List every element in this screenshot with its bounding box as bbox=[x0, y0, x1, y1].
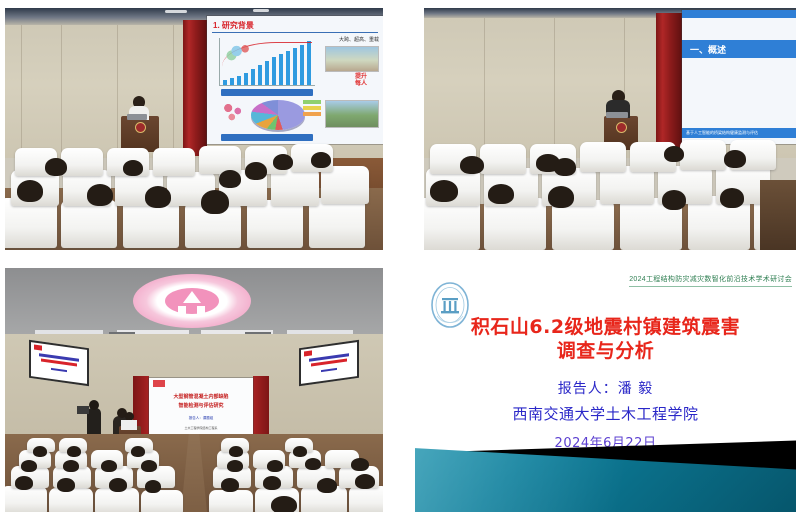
slide-section-heading: 一、概述 bbox=[682, 40, 796, 58]
bar-chart bbox=[219, 38, 315, 86]
pie-chart bbox=[251, 100, 305, 130]
ceiling-light bbox=[253, 9, 269, 12]
stage-curtain-right bbox=[253, 376, 269, 434]
map-thumbnail bbox=[223, 40, 257, 62]
podium-emblem bbox=[135, 122, 146, 133]
wall-seam bbox=[173, 25, 174, 158]
slide-red-note: 提升每人 bbox=[341, 74, 381, 87]
slide-title-line-2: 智能检测与评估研究 bbox=[149, 402, 253, 409]
chart-caption-band bbox=[221, 89, 313, 96]
photo-top-left: 1. 研究背景 bbox=[5, 8, 383, 250]
network-diagram bbox=[221, 102, 245, 122]
stage-curtain bbox=[183, 20, 207, 156]
side-desk bbox=[760, 180, 796, 250]
slide-title-line-1: 积石山6.2级地震村镇建筑震害 bbox=[415, 316, 796, 340]
laptop bbox=[127, 114, 147, 120]
wall-seam bbox=[21, 25, 22, 158]
slide-title-line-1: 大型钢管混凝土内部缺陷 bbox=[149, 394, 253, 402]
slide-subtitle: 报告人：课题组 bbox=[149, 416, 253, 421]
conference-header-rule bbox=[629, 286, 792, 287]
screenshot-canvas: 1. 研究背景 bbox=[0, 0, 800, 525]
speaker-body bbox=[121, 420, 137, 430]
slide-org: 土木工程学院结构工程系 bbox=[149, 426, 253, 430]
slide-rule bbox=[212, 32, 378, 33]
photo-bottom-left: 大型钢管混凝土内部缺陷 智能检测与评估研究 报告人：课题组 土木工程学院结构工程… bbox=[5, 268, 383, 512]
photo-top-right: 一、概述 基于人工智能的桥梁结构健康监测与评估 bbox=[424, 8, 796, 250]
auditorium-scene: 大型钢管混凝土内部缺陷 智能检测与评估研究 报告人：课题组 土木工程学院结构工程… bbox=[5, 268, 383, 512]
slide-title: 1. 研究背景 bbox=[213, 20, 254, 31]
audience-seating bbox=[5, 140, 383, 250]
audience-seating bbox=[5, 434, 383, 512]
audience-seating bbox=[424, 132, 796, 250]
slide-presenter: 报告人：潘 毅 bbox=[415, 378, 796, 398]
projection-screen-top-right: 一、概述 基于人工智能的桥梁结构健康监测与评估 bbox=[682, 10, 796, 144]
camera bbox=[77, 406, 89, 414]
wall-seam bbox=[117, 25, 118, 158]
laptop bbox=[606, 112, 628, 118]
hall-scene-top-right: 一、概述 基于人工智能的桥梁结构健康监测与评估 bbox=[424, 8, 796, 250]
conference-header-text: 2024工程结构防灾减灾数智化前沿技术学术研讨会 bbox=[629, 274, 792, 284]
projection-screen-bottom-left: 大型钢管混凝土内部缺陷 智能检测与评估研究 报告人：课题组 土木工程学院结构工程… bbox=[149, 378, 253, 436]
slide-organization: 西南交通大学土木工程学院 bbox=[415, 403, 796, 424]
photo-mountain bbox=[325, 100, 379, 128]
wall-seam bbox=[61, 25, 62, 158]
photo-bridge bbox=[325, 46, 379, 72]
slide-side-note: 大跨、超高、重载 bbox=[325, 36, 379, 43]
slide-main-title: 积石山6.2级地震村镇建筑震害 调查与分析 bbox=[415, 316, 796, 364]
conference-header: 2024工程结构防灾减灾数智化前沿技术学术研讨会 bbox=[629, 274, 792, 287]
hall-scene-top-left: 1. 研究背景 bbox=[5, 8, 383, 250]
presentation-title-slide: 2024工程结构防灾减灾数智化前沿技术学术研讨会 积石山6.2级地震村镇建筑震害… bbox=[415, 266, 796, 512]
ceiling-emblem bbox=[133, 274, 251, 328]
ceiling-light bbox=[165, 10, 187, 13]
projection-screen-top-left: 1. 研究背景 bbox=[207, 16, 383, 144]
slide-title-line-2: 调查与分析 bbox=[415, 340, 796, 364]
